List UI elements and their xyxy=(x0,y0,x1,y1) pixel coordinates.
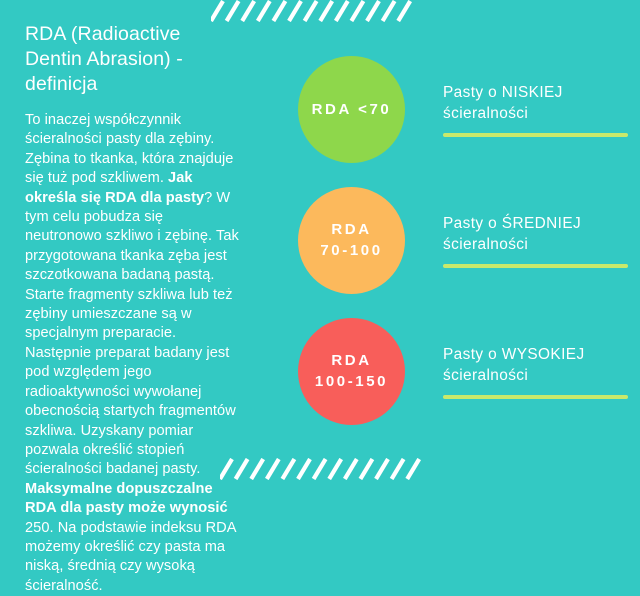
rda-range-badge: RDA100-150 xyxy=(298,318,405,425)
decorative-stripe xyxy=(360,459,372,479)
decorative-stripe xyxy=(305,1,317,21)
rda-scale-list: RDA <70Pasty o NISKIEJścieralnościRDA70-… xyxy=(298,55,628,448)
decorative-stripe xyxy=(336,1,348,21)
decorative-stripe xyxy=(298,459,310,479)
decorative-stripe xyxy=(273,1,285,21)
decorative-stripe xyxy=(398,1,410,21)
rda-label-line: ścieralności xyxy=(443,365,628,386)
decorative-stripe xyxy=(314,459,326,479)
rda-label-underline xyxy=(443,133,628,137)
decorative-stripe xyxy=(329,459,341,479)
rda-scale-row: RDA70-100Pasty o ŚREDNIEJścieralności xyxy=(298,186,628,294)
stripes-top-svg xyxy=(211,0,417,22)
decorative-stripe xyxy=(367,1,379,21)
definition-text: ? W tym celu pobudza się neutronowo szkl… xyxy=(25,190,239,478)
stripes-bottom-svg xyxy=(220,458,426,480)
decorative-stripe xyxy=(376,459,388,479)
rda-range-badge: RDA70-100 xyxy=(298,187,405,294)
decorative-stripe xyxy=(211,1,223,21)
rda-label-line: Pasty o ŚREDNIEJ xyxy=(443,213,628,234)
decorative-stripe xyxy=(289,1,301,21)
rda-range-text: RDA xyxy=(331,219,371,240)
rda-range-text: 70-100 xyxy=(320,240,382,261)
rda-label-line: Pasty o NISKIEJ xyxy=(443,82,628,103)
rda-scale-row: RDA100-150Pasty o WYSOKIEJścieralności xyxy=(298,317,628,425)
rda-label-line: ścieralności xyxy=(443,234,628,255)
decorative-stripe xyxy=(407,459,419,479)
definition-paragraph: To inaczej współczynnik ścieralności pas… xyxy=(25,111,240,596)
decorative-stripe xyxy=(227,1,239,21)
definition-emphasis: Maksymalne dopuszczalne RDA dla pasty mo… xyxy=(25,481,228,516)
rda-label-line: ścieralności xyxy=(443,103,628,124)
decorative-stripe xyxy=(258,1,270,21)
decorative-stripe xyxy=(251,459,263,479)
definition-text: 250. Na podstawie indeksu RDA możemy okr… xyxy=(25,520,236,594)
decorative-stripe xyxy=(242,1,254,21)
rda-label-line: Pasty o WYSOKIEJ xyxy=(443,344,628,365)
decorative-stripe xyxy=(345,459,357,479)
decorative-stripe xyxy=(320,1,332,21)
decorative-stripe xyxy=(282,459,294,479)
decorative-stripes-top xyxy=(211,0,417,22)
decorative-stripe xyxy=(383,1,395,21)
rda-range-text: RDA xyxy=(331,350,371,371)
decorative-stripes-bottom xyxy=(220,458,426,480)
page-title: RDA (Radioactive Dentin Abrasion) - defi… xyxy=(25,22,240,97)
rda-label-block: Pasty o WYSOKIEJścieralności xyxy=(443,344,628,399)
rda-scale-row: RDA <70Pasty o NISKIEJścieralności xyxy=(298,55,628,163)
rda-label-block: Pasty o NISKIEJścieralności xyxy=(443,82,628,137)
rda-label-block: Pasty o ŚREDNIEJścieralności xyxy=(443,213,628,268)
rda-range-text: RDA <70 xyxy=(312,99,392,120)
rda-label-underline xyxy=(443,264,628,268)
decorative-stripe xyxy=(392,459,404,479)
decorative-stripe xyxy=(351,1,363,21)
definition-text: To inaczej współczynnik ścieralności pas… xyxy=(25,112,233,186)
rda-range-text: 100-150 xyxy=(315,371,388,392)
rda-range-badge: RDA <70 xyxy=(298,56,405,163)
decorative-stripe xyxy=(267,459,279,479)
rda-label-underline xyxy=(443,395,628,399)
definition-column: RDA (Radioactive Dentin Abrasion) - defi… xyxy=(25,22,240,596)
